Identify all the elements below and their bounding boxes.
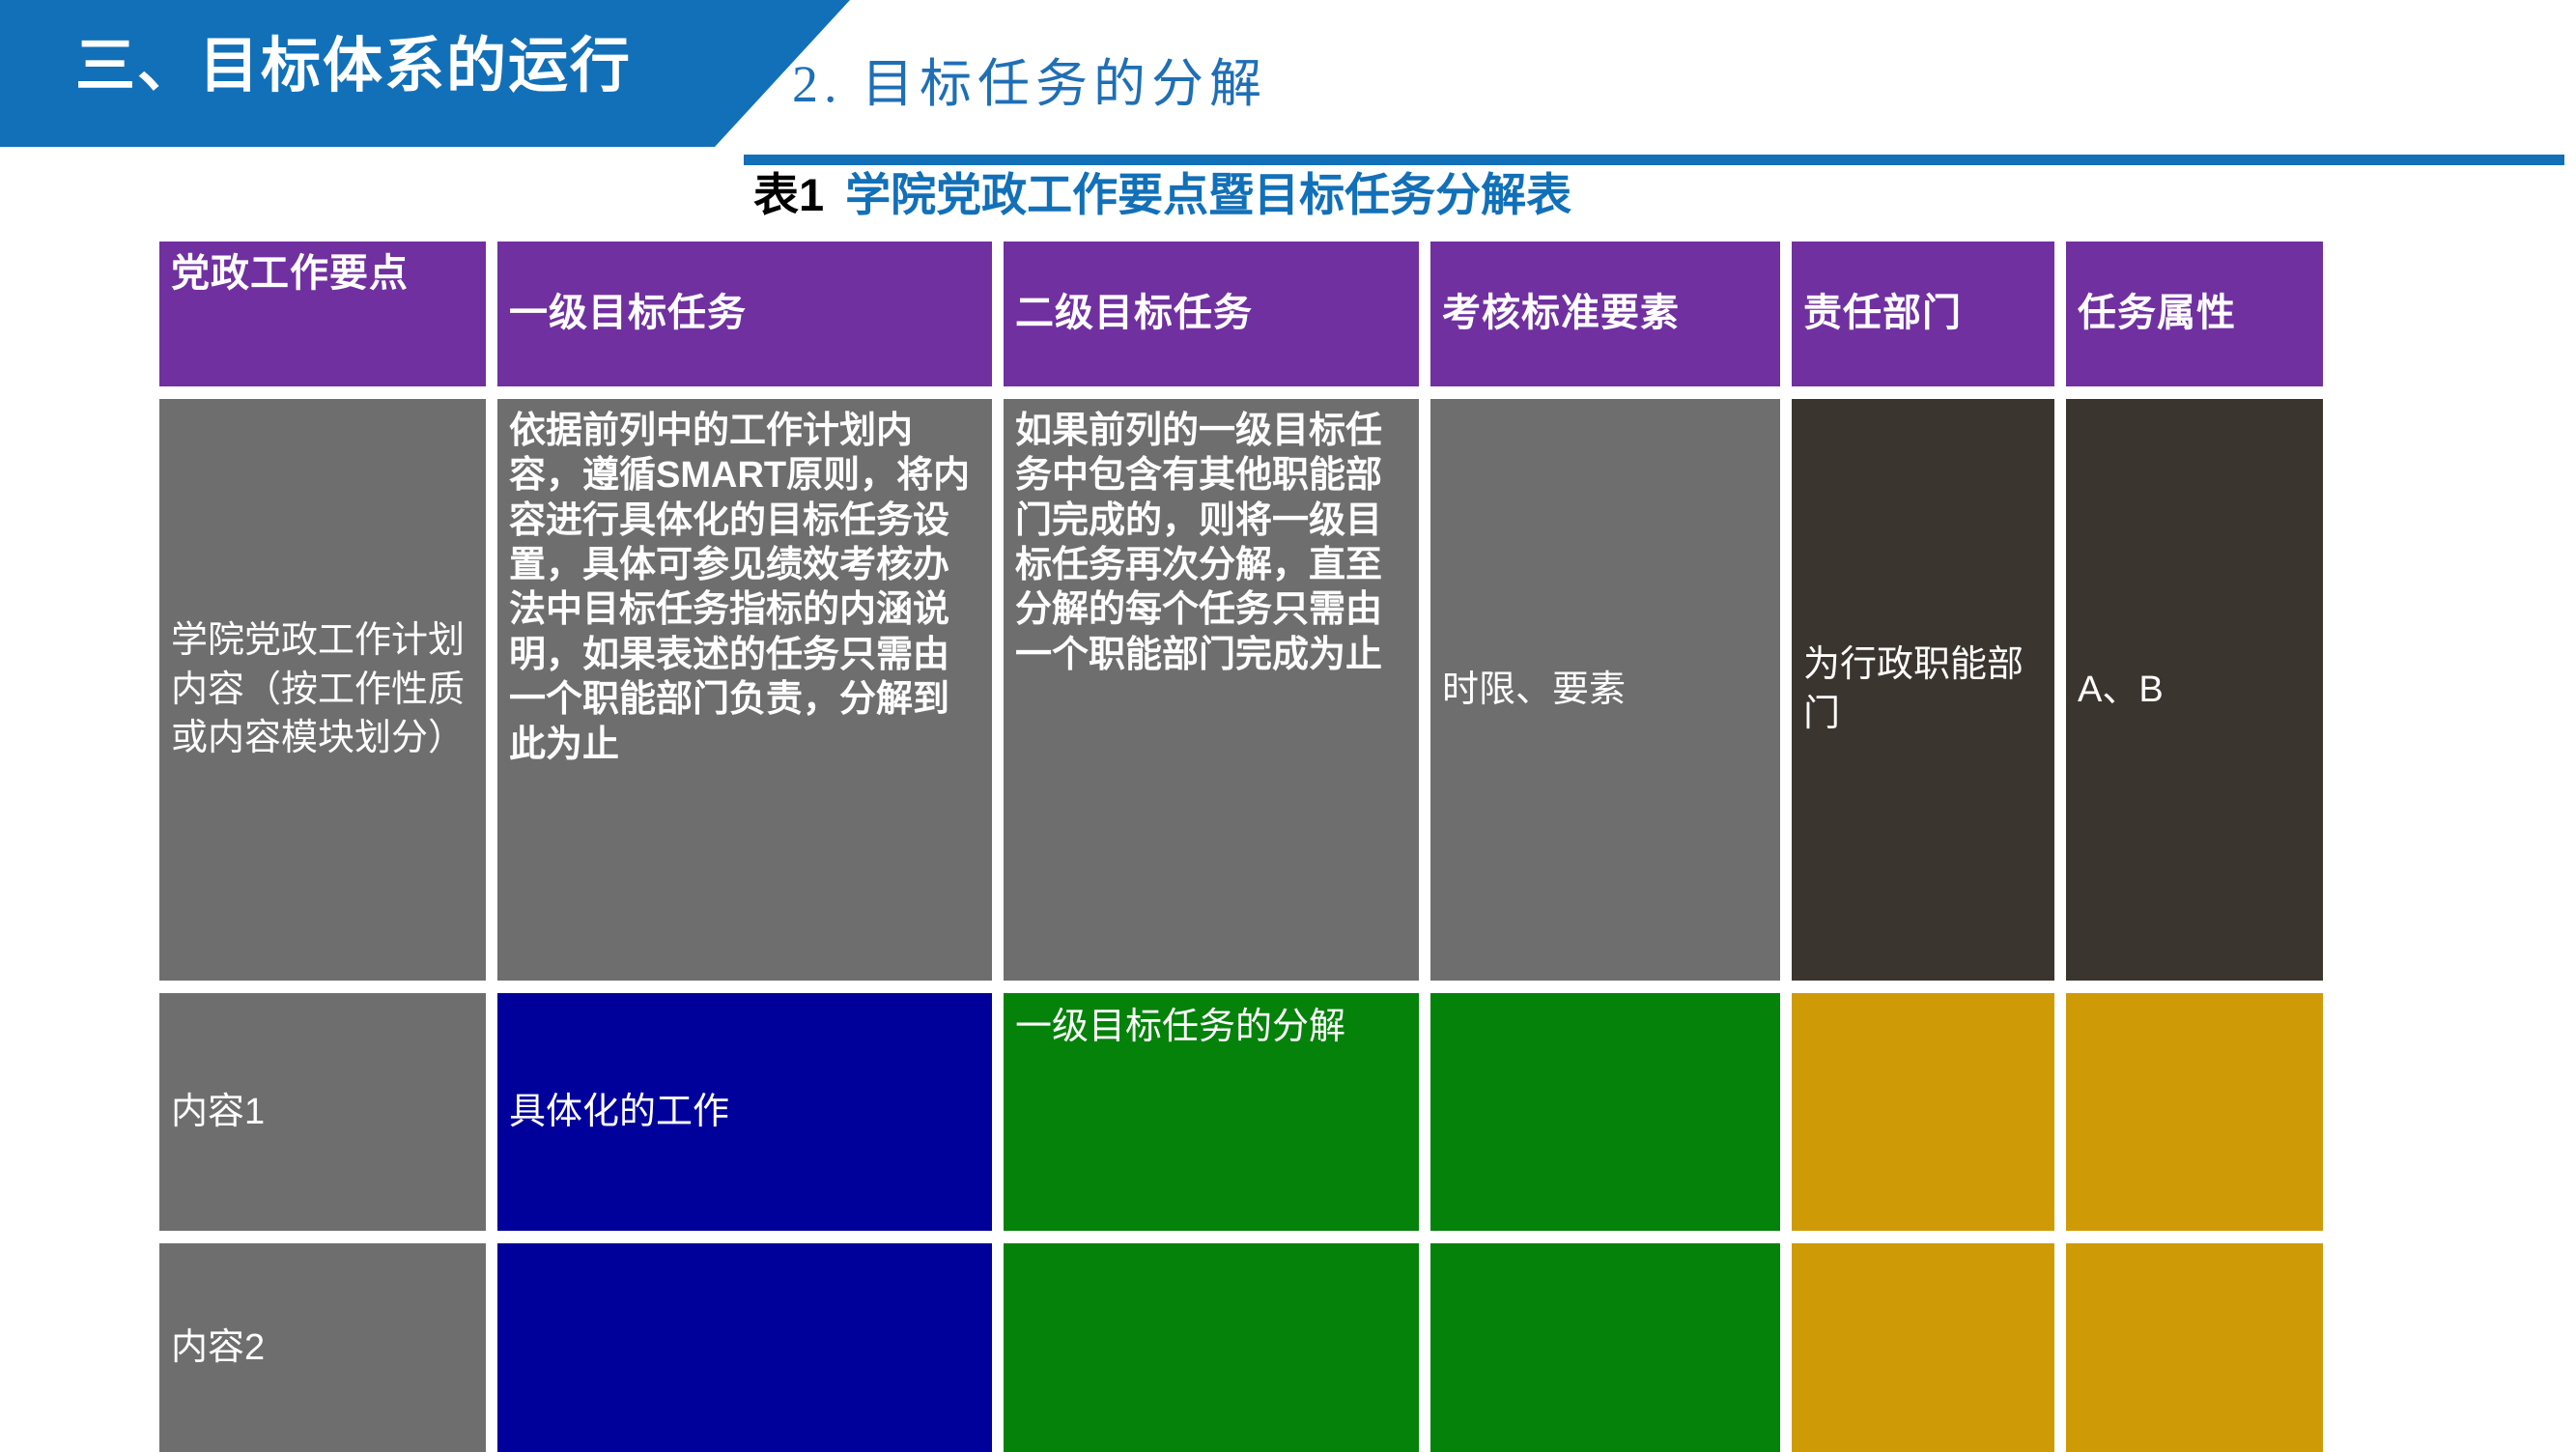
table-caption-name: 学院党政工作要点暨目标任务分解表 — [845, 169, 1571, 220]
table-row — [1792, 993, 2054, 1231]
table-header-cell-5: 任务属性 — [2066, 242, 2323, 386]
table-row — [2066, 1243, 2323, 1452]
table-row: A、B — [2066, 399, 2323, 981]
table-row — [1430, 1243, 1780, 1452]
table-row: 依据前列中的工作计划内容，遵循SMART原则，将内容进行具体化的目标任务设置，具… — [497, 399, 992, 981]
table-row — [1430, 993, 1780, 1231]
table-row — [2066, 993, 2323, 1231]
table-header-cell-1: 一级目标任务 — [497, 242, 992, 386]
section-subtitle: 2. 目标任务的分解 — [792, 41, 1267, 117]
table-header-cell-2: 二级目标任务 — [1004, 242, 1419, 386]
section-banner: 三、目标体系的运行 — [0, 0, 850, 147]
table-row: 内容2 — [159, 1243, 486, 1452]
table-row: 时限、要素 — [1430, 399, 1780, 981]
table-row — [497, 1243, 992, 1452]
table-row — [1004, 1243, 1419, 1452]
table-caption-number: 表1 — [753, 169, 824, 220]
table-header-cell-0: 党政工作要点 — [159, 242, 486, 386]
table-header-cell-4: 责任部门 — [1792, 242, 2054, 386]
table-caption: 表1学院党政工作要点暨目标任务分解表 — [753, 172, 1571, 217]
table-row: 具体化的工作 — [497, 993, 992, 1231]
table-row — [1792, 1243, 2054, 1452]
section-title: 三、目标体系的运行 — [75, 32, 632, 100]
table-row: 学院党政工作计划内容（按工作性质或内容模块划分） — [159, 399, 486, 981]
table-header-cell-3: 考核标准要素 — [1430, 242, 1780, 386]
table-row: 一级目标任务的分解 — [1004, 993, 1419, 1231]
table-row: 如果前列的一级目标任务中包含有其他职能部门完成的，则将一级目标任务再次分解，直至… — [1004, 399, 1419, 981]
header-divider-rule — [744, 155, 2564, 165]
table-row: 为行政职能部门 — [1792, 399, 2054, 981]
table-row: 内容1 — [159, 993, 486, 1231]
objective-decomposition-table: 党政工作要点 一级目标任务 二级目标任务 考核标准要素 责任部门 任务属性 学院… — [159, 242, 2415, 1452]
